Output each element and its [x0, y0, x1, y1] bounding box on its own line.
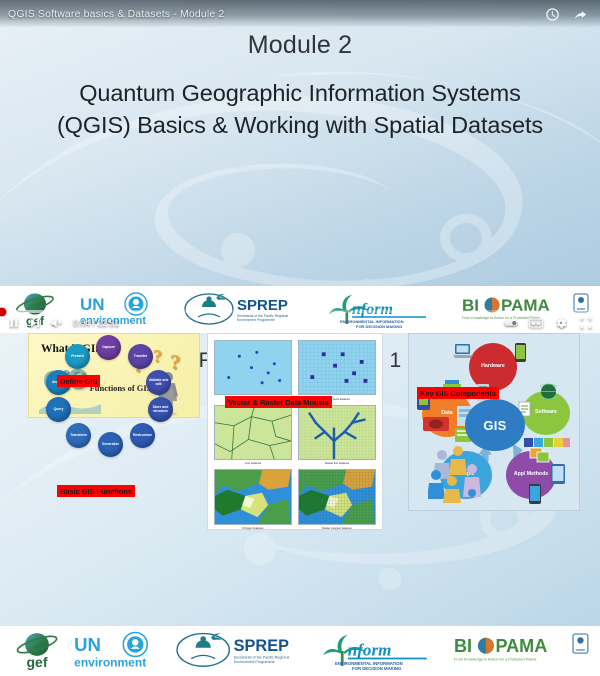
- raster-line-image: [298, 405, 376, 460]
- function-bubble: Transfer: [128, 344, 153, 369]
- title-bar-actions: [545, 7, 592, 22]
- label-key-components: Key GIS Components: [417, 387, 499, 399]
- key-gis-components-panel: Hardware Software: [408, 333, 580, 511]
- gef-logo: gef: [10, 630, 64, 672]
- vr-cell-vector-line: Line features: [214, 405, 292, 466]
- progress-buffered: [0, 310, 54, 313]
- video-viewport[interactable]: Module 2 Quantum Geographic Information …: [0, 0, 600, 333]
- people-group-icon: [428, 445, 498, 503]
- label-vector-raster: Vector & Raster Data Models: [225, 396, 332, 408]
- file-folder-icon: [422, 415, 450, 433]
- mobile-app-icon: [528, 483, 542, 505]
- progress-bar[interactable]: [0, 310, 600, 313]
- center-label: GIS: [483, 418, 506, 433]
- component-center-gis: GIS: [465, 399, 525, 451]
- partner-logo-strip-bottom: gef UN environment: [0, 626, 600, 676]
- svg-text:UN: UN: [74, 634, 101, 655]
- vr-caption: Line features: [214, 461, 292, 465]
- watch-later-icon[interactable]: [545, 7, 560, 22]
- next-video-button[interactable]: [28, 316, 42, 330]
- svg-text:SPREP: SPREP: [234, 637, 289, 655]
- autoplay-toggle[interactable]: [504, 316, 518, 330]
- slide-title: Quantum Geographic Information Systems (…: [18, 78, 582, 142]
- component-label: Software: [535, 410, 557, 416]
- function-bubble: Restructure: [130, 423, 155, 448]
- vector-point-image: [214, 340, 292, 395]
- vector-raster-panel: Point features R: [207, 333, 383, 530]
- vector-line-image: [214, 405, 292, 460]
- svg-text:FOR DECISION MAKING: FOR DECISION MAKING: [352, 666, 402, 671]
- vr-caption: Polygon features: [214, 526, 292, 530]
- slide-title-line2: (QGIS) Basics & Working with Spatial Dat…: [18, 110, 582, 142]
- settings-button[interactable]: [554, 316, 568, 330]
- vr-cell-vector-polygon: Polygon features: [214, 469, 292, 530]
- component-label: App/ Methods: [514, 472, 548, 478]
- svg-text:BI: BI: [454, 636, 472, 656]
- function-bubble: Transform: [66, 423, 91, 448]
- raster-polygon-image: [298, 469, 376, 524]
- vr-cell-vector-point: Point features: [214, 340, 292, 401]
- function-bubble: Store and structure: [148, 397, 173, 422]
- player-controls[interactable]: 0:04 / 22:51: [0, 310, 600, 333]
- control-row: 0:04 / 22:51: [0, 313, 600, 333]
- fullscreen-button[interactable]: [579, 316, 593, 330]
- slide-module-label: Module 2: [0, 31, 600, 60]
- svg-text:environment: environment: [74, 655, 146, 669]
- svg-text:gef: gef: [26, 654, 47, 670]
- laptop-icon: [452, 343, 474, 359]
- component-label: Hardware: [481, 364, 505, 370]
- biopama-logo: BI PAMA From Knowledge to Action for a P…: [454, 629, 590, 673]
- function-bubble: Present: [65, 344, 90, 369]
- smartphone-icon: [514, 342, 527, 363]
- mute-button[interactable]: [49, 316, 63, 330]
- controls-left-group: 0:04 / 22:51: [7, 316, 119, 330]
- svg-text:nform: nform: [348, 640, 392, 659]
- svg-text:Environment Programme: Environment Programme: [234, 660, 275, 664]
- controls-right-group: [504, 316, 593, 330]
- slide-recap: Recap from Module 1 Define GIS Vector & …: [0, 333, 600, 676]
- function-bubble: Validate and edit: [146, 370, 171, 395]
- vr-cell-raster-point: Raster point features: [298, 340, 376, 401]
- vector-polygon-image: [214, 469, 292, 524]
- vr-caption: Raster line features: [298, 461, 376, 465]
- sprep-logo: SPREP Secretariat of the Pacific Regiona…: [176, 629, 312, 673]
- video-title: QGIS Software basics & Datasets - Module…: [8, 8, 545, 20]
- tablet-icon: [550, 463, 566, 485]
- function-bubble: Capture: [96, 335, 121, 360]
- svg-text:ENVIRONMENTAL INFORMATION: ENVIRONMENTAL INFORMATION: [335, 661, 403, 666]
- photos-icon: [529, 447, 551, 464]
- un-environment-logo: UN environment: [72, 630, 168, 672]
- globe-icon: [540, 383, 557, 400]
- time-display: 0:04 / 22:51: [73, 318, 119, 328]
- video-title-bar: QGIS Software basics & Datasets - Module…: [0, 0, 600, 28]
- share-icon[interactable]: [573, 7, 588, 22]
- inform-logo: nform ENVIRONMENTAL INFORMATION FOR DECI…: [320, 629, 446, 673]
- vr-cell-raster-line: Raster line features: [298, 405, 376, 466]
- slide-title-line1: Quantum Geographic Information Systems: [18, 78, 582, 110]
- pause-button[interactable]: [7, 316, 21, 330]
- function-bubble: Query: [46, 397, 71, 422]
- raster-point-image: [298, 340, 376, 395]
- label-define-gis: Define GIS: [57, 375, 100, 387]
- vr-cell-raster-polygon: Raster polygon features: [298, 469, 376, 530]
- vr-caption: Raster polygon features: [298, 526, 376, 530]
- subtitles-button[interactable]: [529, 316, 543, 330]
- svg-text:PAMA: PAMA: [495, 636, 547, 656]
- function-bubble: Generalize: [98, 432, 123, 457]
- vector-raster-grid: Point features R: [214, 340, 376, 525]
- label-basic-functions: Basic GIS Functions: [57, 485, 135, 497]
- gis-functions-diagram: Functions of GIS Capture Transfer Valida…: [38, 333, 203, 453]
- key-components-diagram: Hardware Software: [414, 339, 574, 505]
- video-player-screen: Module 2 Quantum Geographic Information …: [0, 0, 600, 676]
- svg-text:From Knowledge to Action for a: From Knowledge to Action for a Protected…: [454, 658, 537, 662]
